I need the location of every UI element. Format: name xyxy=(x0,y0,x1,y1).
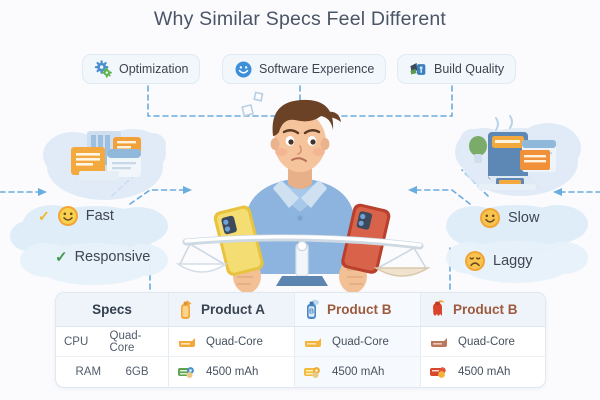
battery-red-gear-icon xyxy=(429,365,449,379)
spec-value: Quad-Core xyxy=(110,330,161,354)
battery-green-gear-icon xyxy=(177,365,197,379)
table-header-product-a: Product A xyxy=(169,293,295,326)
shield-build-icon xyxy=(409,60,428,79)
table-cell-value: 4500 mAh xyxy=(295,357,421,387)
chip-brown-icon xyxy=(429,335,449,349)
table-cell-value: Quad-Core xyxy=(169,327,295,356)
chip-orange-icon xyxy=(177,335,197,349)
cell-text: 4500 mAh xyxy=(206,366,258,378)
product-a-bottle-icon xyxy=(177,299,194,321)
table-header-label: Specs xyxy=(92,302,132,317)
spec-label-cell: RAM 6GB xyxy=(56,357,169,387)
spec-key: RAM xyxy=(75,366,115,378)
chip-orange-icon xyxy=(303,335,323,349)
frowning-face-icon xyxy=(464,250,486,272)
cell-text: 4500 mAh xyxy=(458,366,510,378)
spec-comparison-table: Specs Product A B Pr xyxy=(55,292,546,388)
table-header-label: Product B xyxy=(327,302,392,317)
cloud-item-slow: Slow xyxy=(479,207,539,229)
check-mark-yellow-icon: ✓ xyxy=(38,209,50,223)
table-header-label: Product B xyxy=(453,302,518,317)
cell-text: 4500 mAh xyxy=(332,366,384,378)
table-row-cpu: CPU Quad-Core Quad-Core Quad-Core xyxy=(56,327,545,357)
table-cell-value: 4500 mAh xyxy=(169,357,295,387)
spec-label-cell: CPU Quad-Core xyxy=(56,327,169,356)
spec-key: CPU xyxy=(64,336,100,348)
cell-text: Quad-Core xyxy=(332,336,389,348)
table-header-label: Product A xyxy=(201,302,265,317)
svg-text:B: B xyxy=(309,308,314,315)
battery-yellow-gear-icon xyxy=(303,365,323,379)
pill-optimization[interactable]: Optimization xyxy=(82,54,200,84)
pill-software-experience[interactable]: Software Experience xyxy=(222,54,386,84)
gears-icon xyxy=(94,60,113,79)
product-b-red-bottle-icon xyxy=(429,299,446,321)
table-header-product-b-1: B Product B xyxy=(295,293,421,326)
pill-label: Software Experience xyxy=(259,62,374,76)
cloud-item-label: Responsive xyxy=(75,249,151,265)
cell-text: Quad-Core xyxy=(206,336,263,348)
cloud-item-label: Laggy xyxy=(493,253,533,269)
table-row-ram: RAM 6GB 4500 mAh xyxy=(56,357,545,387)
table-cell-value: Quad-Core xyxy=(421,327,545,356)
check-mark-green-icon: ✓ xyxy=(55,250,68,265)
smiley-face-icon xyxy=(57,205,79,227)
pill-label: Build Quality xyxy=(434,62,504,76)
table-header-row: Specs Product A B Pr xyxy=(56,293,545,327)
balance-scale xyxy=(178,228,428,290)
cell-text: Quad-Core xyxy=(458,336,515,348)
spec-value: 6GB xyxy=(125,366,148,378)
smiley-face-icon xyxy=(234,60,253,79)
smiley-face-icon xyxy=(479,207,501,229)
pill-build-quality[interactable]: Build Quality xyxy=(397,54,516,84)
table-cell-value: 4500 mAh xyxy=(421,357,545,387)
table-header-specs: Specs xyxy=(56,293,169,326)
pill-label: Optimization xyxy=(119,62,188,76)
product-b-blue-bottle-icon: B xyxy=(303,299,320,321)
infographic-canvas: Why Similar Specs Feel Different xyxy=(0,0,600,400)
cloud-item-fast: ✓ Fast xyxy=(38,205,114,227)
table-header-product-b-2: Product B xyxy=(421,293,545,326)
table-cell-value: Quad-Core xyxy=(295,327,421,356)
cloud-item-label: Fast xyxy=(86,208,114,224)
cloud-item-laggy: Laggy xyxy=(464,250,533,272)
cloud-item-label: Slow xyxy=(508,210,539,226)
cloud-item-responsive: ✓ Responsive xyxy=(55,249,150,265)
